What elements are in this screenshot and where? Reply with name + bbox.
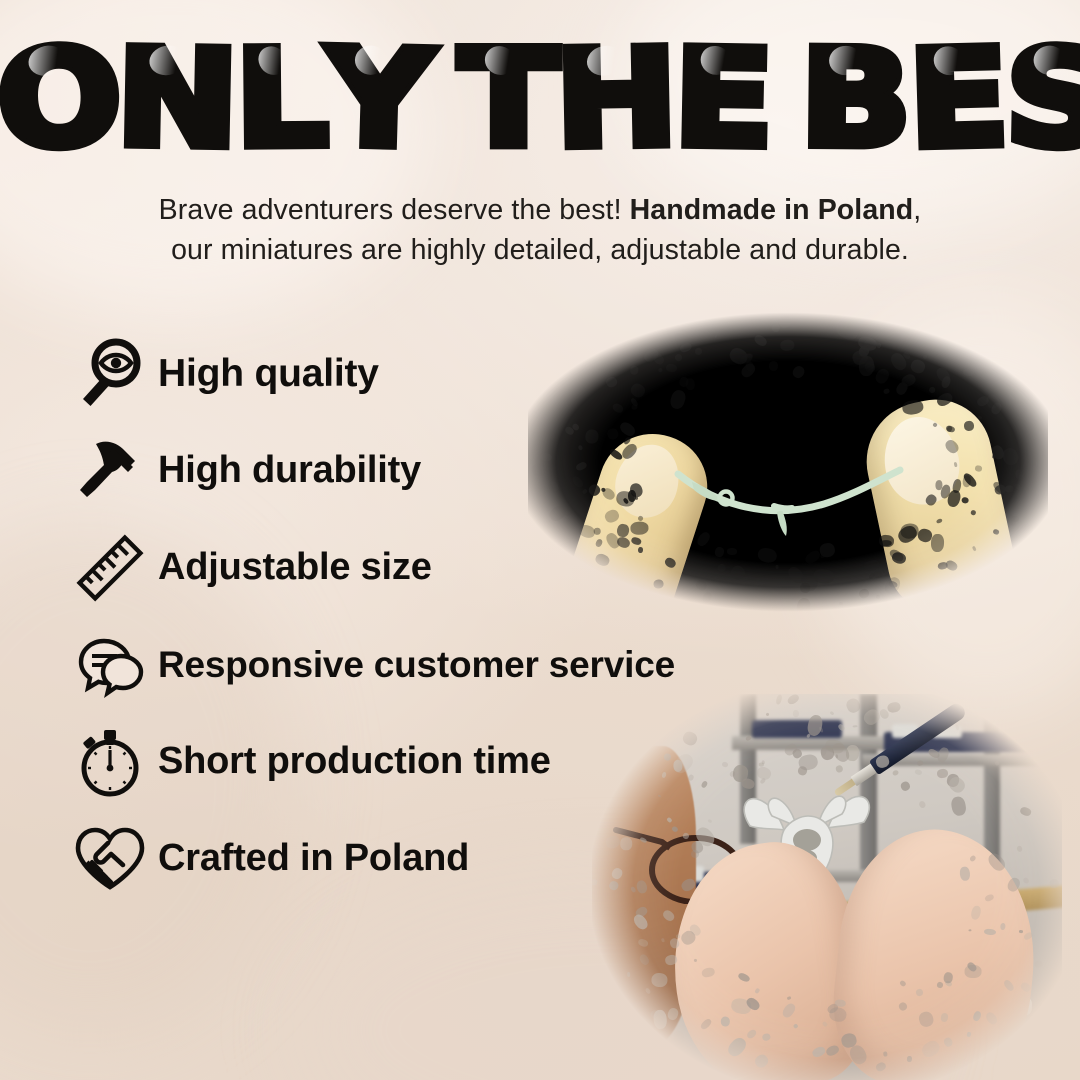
photo-edge-speckle — [627, 972, 630, 977]
photo-edge-speckle — [859, 355, 875, 376]
workshop-painting-photo — [592, 694, 1062, 1080]
photo-edge-speckle — [665, 363, 677, 372]
photo-edge-speckle — [775, 565, 779, 569]
headline-letter: E — [672, 33, 774, 168]
photo-edge-speckle — [883, 1051, 887, 1056]
headline-letter: H — [554, 32, 679, 167]
infographic-canvas: ONLYTHEBEST Brave adventurers deserve th… — [0, 0, 1080, 1080]
headline-letter: S — [1004, 33, 1080, 168]
photo-edge-speckle — [975, 465, 983, 472]
headline-letter: Y — [324, 32, 433, 168]
headline-letter: B — [800, 33, 912, 167]
hammer-icon — [62, 434, 158, 508]
ruler-icon — [62, 530, 158, 606]
feature-label: Responsive customer service — [158, 644, 675, 686]
photo-edge-speckle — [673, 1031, 684, 1046]
handshake-heart-icon — [62, 821, 158, 897]
photo-edge-speckle — [1050, 879, 1059, 888]
feature-label: High quality — [158, 352, 379, 396]
photo-edge-speckle — [793, 710, 799, 717]
photo-edge-speckle — [779, 339, 794, 351]
magnifier-eye-icon — [62, 337, 158, 411]
headline-word: BEST — [802, 36, 1080, 164]
speech-bubbles-icon — [62, 628, 158, 702]
headline-letter: N — [115, 32, 240, 167]
photo-edge-speckle — [727, 547, 737, 554]
subtitle-text-lead: Brave adventurers deserve the best! — [159, 194, 630, 226]
headline-letter: E — [907, 32, 1010, 167]
photo-edge-speckle — [907, 1056, 912, 1062]
parts-tray — [752, 720, 842, 738]
photo-edge-speckle — [834, 999, 845, 1007]
page-title: ONLYTHEBEST — [0, 36, 1080, 164]
stopwatch-icon — [62, 724, 158, 800]
headline-letter: O — [0, 32, 123, 168]
subtitle: Brave adventurers deserve the best! Hand… — [60, 190, 1020, 271]
photo-edge-speckle — [963, 369, 974, 377]
flexible-miniature-photo — [528, 312, 1048, 612]
feature-label: Crafted in Poland — [158, 837, 469, 880]
photo-edge-speckle — [745, 352, 753, 358]
subtitle-comma: , — [913, 194, 921, 226]
headline-word: ONLY — [0, 36, 430, 164]
subtitle-line-2: our miniatures are highly detailed, adju… — [171, 234, 909, 266]
photo-edge-speckle — [653, 579, 664, 589]
feature-label: High durability — [158, 449, 421, 492]
photo-edge-speckle — [839, 602, 843, 605]
photo-edge-speckle — [970, 509, 976, 515]
feature-label: Short production time — [158, 740, 551, 783]
photo-edge-speckle — [585, 429, 599, 444]
photo-edge-speckle — [959, 866, 970, 881]
subtitle-bold-handmade: Handmade in Poland — [630, 194, 914, 226]
headline-letter: L — [235, 33, 329, 167]
photo-edge-speckle — [1014, 469, 1022, 480]
flexible-miniature-part — [674, 462, 904, 540]
headline-letter: T — [459, 33, 559, 166]
headline-word: THE — [460, 36, 772, 164]
photo-edge-speckle — [930, 534, 943, 553]
photo-edge-speckle — [1019, 930, 1023, 933]
feature-label: Adjustable size — [158, 546, 432, 589]
photo-edge-speckle — [1009, 394, 1016, 400]
